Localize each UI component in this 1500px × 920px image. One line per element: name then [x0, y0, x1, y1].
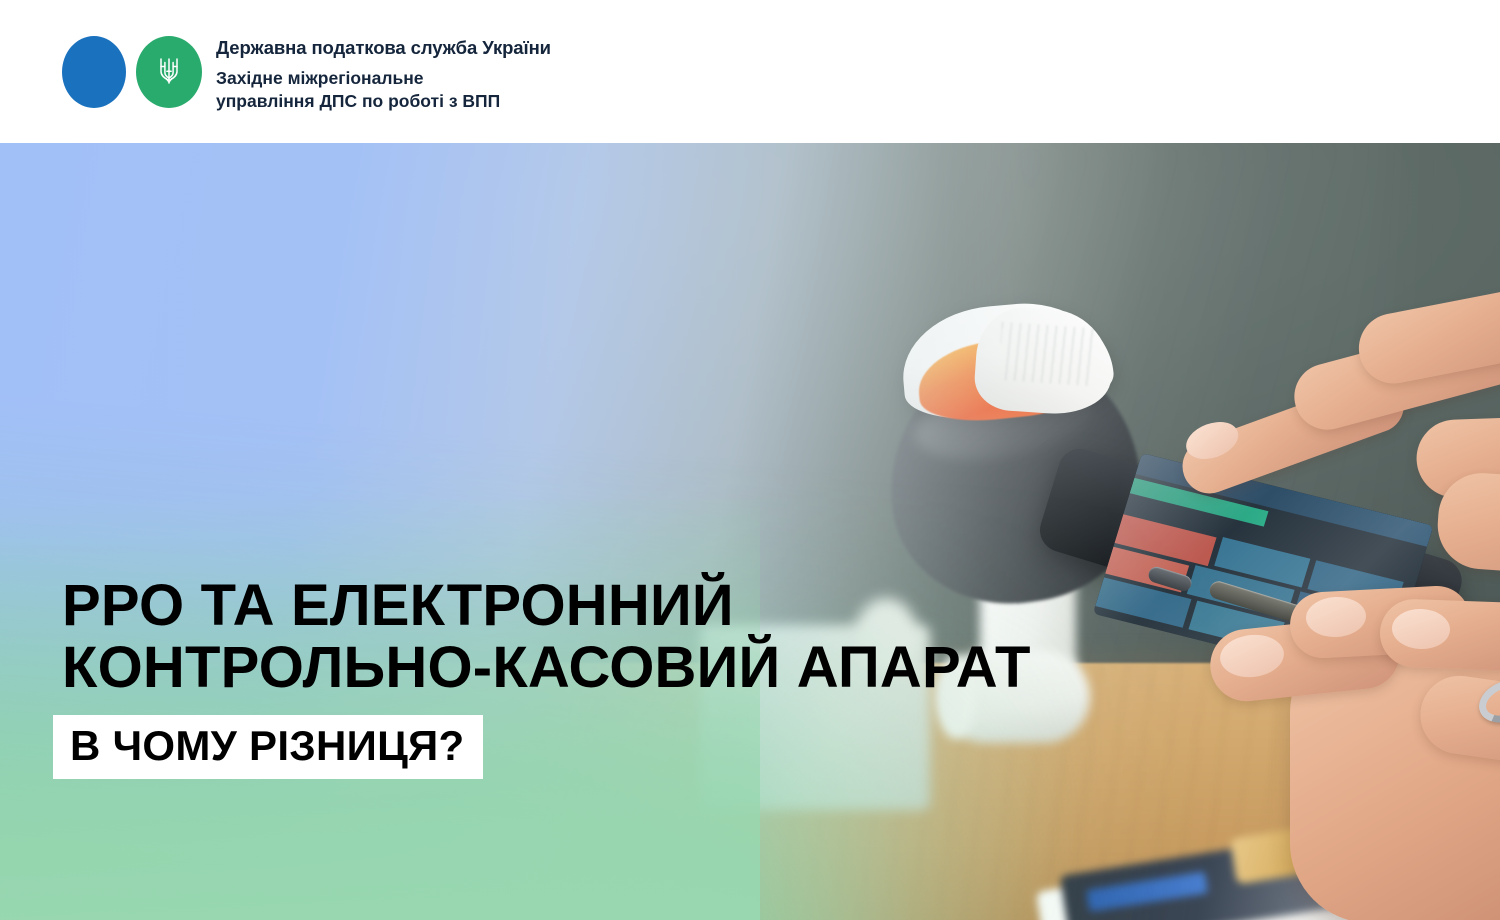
- department-line-2: управління ДПС по роботі з ВПП: [216, 90, 551, 113]
- site-header: Державна податкова служба України Західн…: [0, 0, 1500, 143]
- organization-name: Державна податкова служба України: [216, 36, 551, 60]
- hero-banner: РРО ТА ЕЛЕКТРОННИЙ КОНТРОЛЬНО-КАСОВИЙ АП…: [0, 143, 1500, 920]
- agency-logo: [62, 36, 202, 108]
- gradient-overlay-bottom-green: [0, 500, 760, 920]
- department-line-1: Західне міжрегіональне: [216, 67, 551, 90]
- ukraine-trident-icon: [156, 55, 182, 89]
- logo-blue-circle-icon: [62, 36, 126, 108]
- headline-line-1: РРО ТА ЕЛЕКТРОННИЙ: [62, 575, 1031, 637]
- banner-subtitle: В ЧОМУ РІЗНИЦЯ?: [70, 724, 465, 768]
- headline-line-2: КОНТРОЛЬНО-КАСОВИЙ АПАРАТ: [62, 637, 1031, 699]
- banner-subtitle-box: В ЧОМУ РІЗНИЦЯ?: [53, 715, 483, 779]
- banner-headline: РРО ТА ЕЛЕКТРОННИЙ КОНТРОЛЬНО-КАСОВИЙ АП…: [62, 575, 1031, 699]
- header-text-block: Державна податкова служба України Західн…: [216, 36, 551, 113]
- banner-canvas: Державна податкова служба України Західн…: [0, 0, 1500, 920]
- logo-green-circle-icon: [136, 36, 202, 108]
